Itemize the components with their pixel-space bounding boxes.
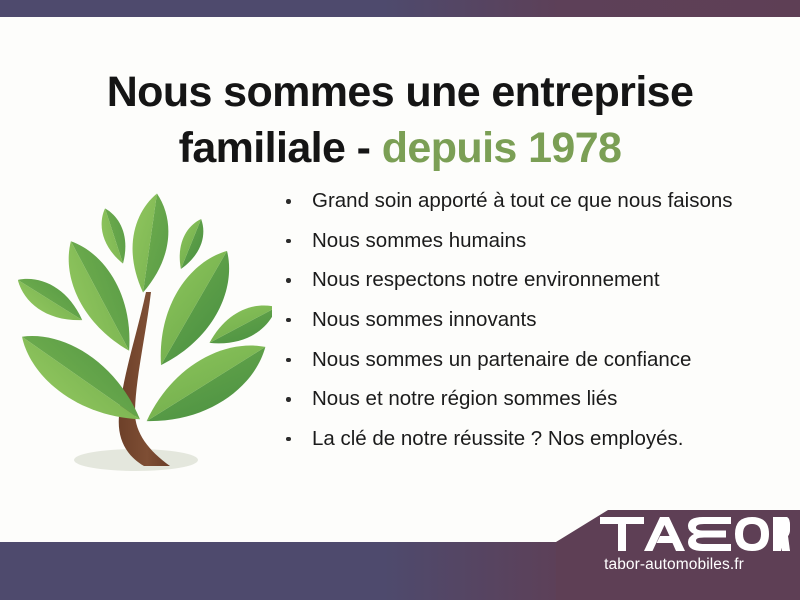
leaf-top-left-small bbox=[95, 205, 132, 266]
leaf-lower-right bbox=[134, 327, 272, 441]
tabor-wordmark-icon bbox=[600, 517, 790, 551]
tree-illustration bbox=[18, 188, 272, 492]
list-item: La clé de notre réussite ? Nos employés. bbox=[283, 428, 783, 450]
top-accent-bar bbox=[0, 0, 800, 17]
slide-title: Nous sommes une entreprise familiale - d… bbox=[40, 65, 760, 177]
brand-tagline: tabor-automobiles.fr bbox=[556, 556, 800, 574]
list-item: Nous respectons notre environnement bbox=[283, 269, 783, 291]
presentation-slide: Nous sommes une entreprise familiale - d… bbox=[0, 0, 800, 600]
list-item: Nous sommes un partenaire de confiance bbox=[283, 349, 783, 371]
title-line-2-accent: depuis 1978 bbox=[382, 124, 622, 172]
title-line-2-plain: familiale - bbox=[179, 124, 382, 172]
title-line-1: Nous sommes une entreprise bbox=[107, 68, 694, 116]
list-item: Nous et notre région sommes liés bbox=[283, 388, 783, 410]
brand-logo-panel: tabor-automobiles.fr bbox=[556, 510, 800, 600]
list-item: Grand soin apporté à tout ce que nous fa… bbox=[283, 190, 783, 212]
list-item: Nous sommes innovants bbox=[283, 309, 783, 331]
list-item: Nous sommes humains bbox=[283, 230, 783, 252]
leaf-top-center bbox=[126, 191, 174, 295]
value-bullet-list: Grand soin apporté à tout ce que nous fa… bbox=[283, 190, 783, 467]
